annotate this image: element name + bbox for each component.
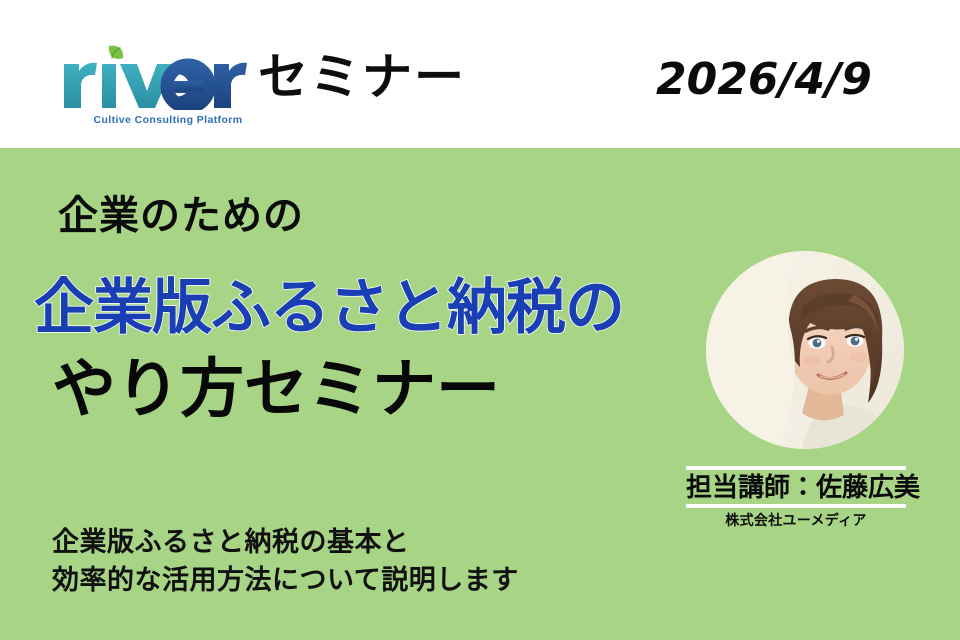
lead-text: 企業版ふるさと納税の基本と 効率的な活用方法について説明します	[52, 524, 519, 601]
title-line-primary: 企業版ふるさと納税の	[34, 278, 624, 338]
poster-header: Cultive Consulting Platform セミナー 2026/4/…	[0, 0, 960, 148]
instructor-avatar	[706, 251, 904, 449]
header-seminar-label: セミナー	[258, 52, 466, 102]
river-logo-tagline: Cultive Consulting Platform	[83, 114, 253, 126]
river-logo: Cultive Consulting Platform	[62, 44, 262, 136]
header-date: 2026/4/9	[656, 58, 872, 102]
instructor-name: 担当講師：佐藤広美	[686, 474, 906, 502]
river-logo-icon	[62, 44, 247, 110]
lead-line-1: 企業版ふるさと納税の基本と	[52, 524, 519, 562]
instructor-company: 株式会社ユーメディア	[686, 514, 906, 528]
instructor-rule-bottom	[686, 504, 906, 508]
seminar-poster: Cultive Consulting Platform セミナー 2026/4/…	[0, 0, 960, 640]
lead-line-2: 効率的な活用方法について説明します	[52, 562, 519, 600]
instructor-block: 担当講師：佐藤広美 株式会社ユーメディア	[686, 466, 906, 528]
title-line-secondary: やり方セミナー	[52, 358, 500, 422]
title-kicker: 企業のための	[58, 196, 304, 236]
instructor-rule-top	[686, 466, 906, 470]
